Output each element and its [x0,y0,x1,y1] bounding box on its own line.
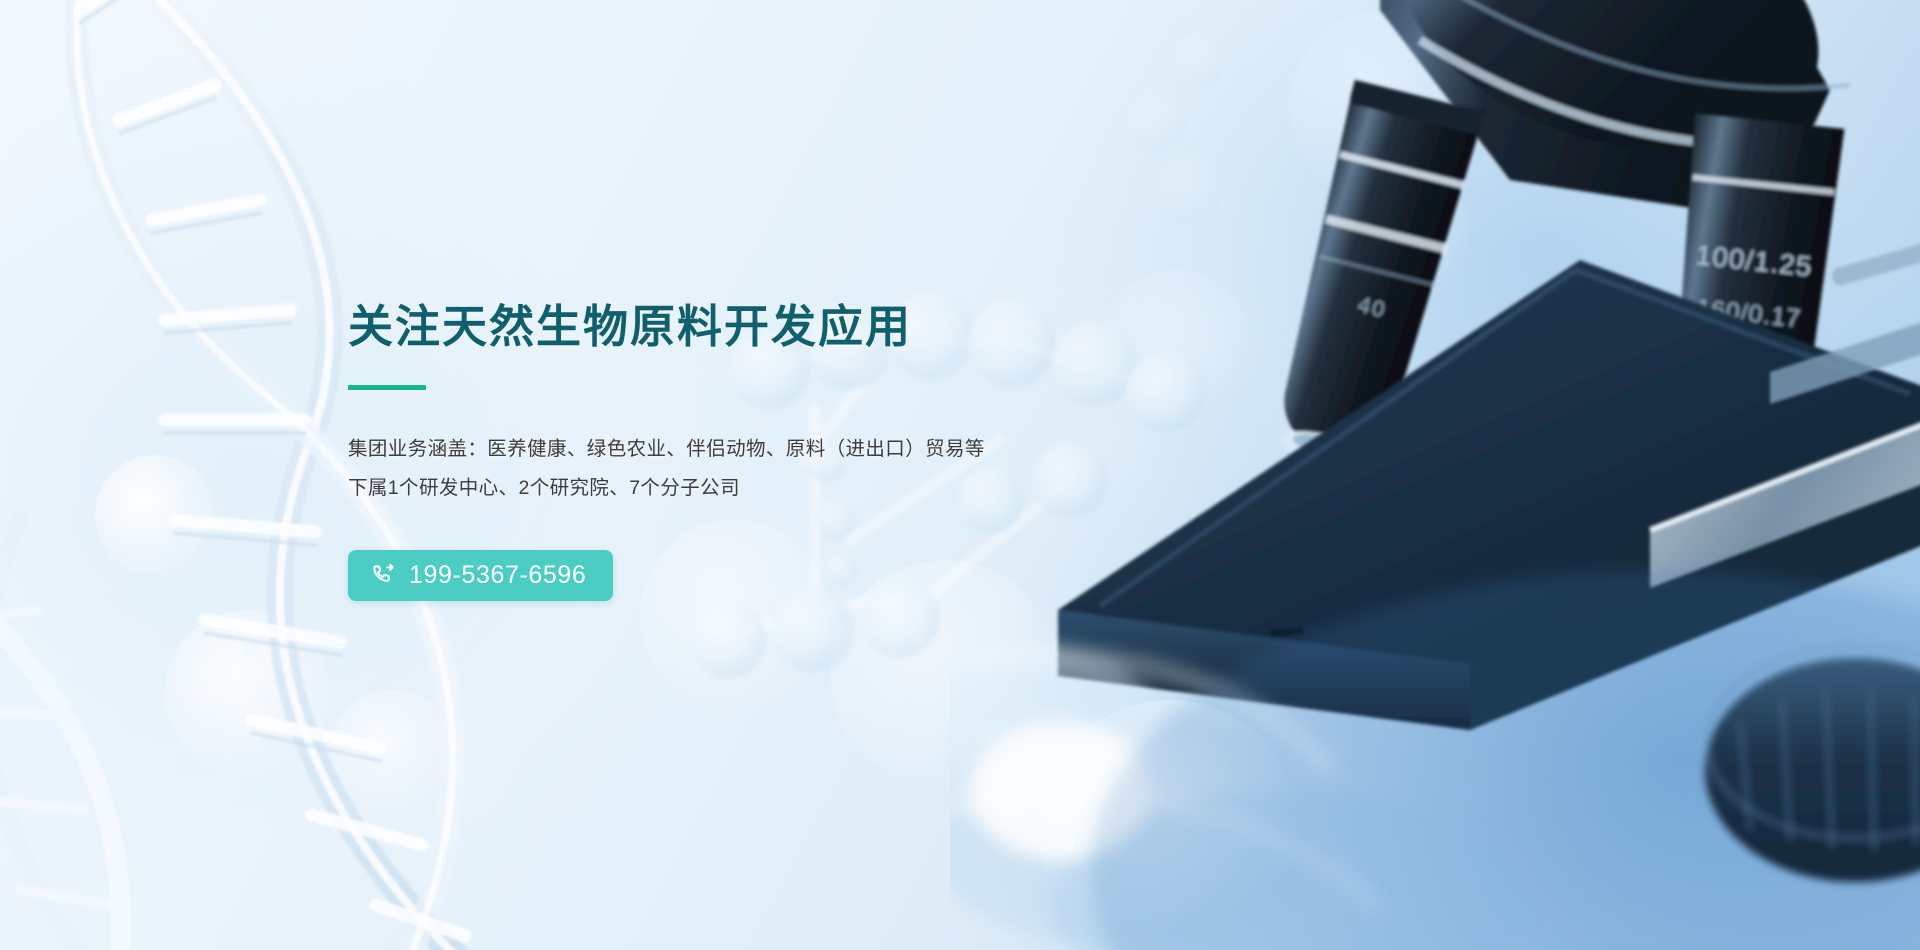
bokeh-disc [1040,700,1300,950]
svg-text:100/1.25: 100/1.25 [1694,239,1814,282]
phone-number-label: 199-5367-6596 [409,563,586,588]
phone-forwarded-icon [371,563,396,588]
svg-text:40: 40 [1355,292,1389,323]
svg-text:160/0.17: 160/0.17 [1695,294,1803,333]
hero-description: 集团业务涵盖：医养健康、绿色农业、伴侣动物、原料（进出口）贸易等 下属1个研发中… [348,430,1248,508]
page-title: 关注天然生物原料开发应用 [348,300,1248,353]
svg-text:100: 100 [1710,415,1762,450]
accent-divider [348,385,426,390]
description-line-1: 集团业务涵盖：医养健康、绿色农业、伴侣动物、原料（进出口）贸易等 [348,430,1248,469]
bokeh-disc [330,690,455,815]
hero-content: 关注天然生物原料开发应用 集团业务涵盖：医养健康、绿色农业、伴侣动物、原料（进出… [348,300,1248,601]
phone-cta-button[interactable]: 199-5367-6596 [348,550,613,601]
description-line-2: 下属1个研发中心、2个研究院、7个分子公司 [348,469,1248,508]
hero-banner: 40 100/1.25 160/0.17 100 [0,0,1920,950]
bokeh-disc [1290,10,1480,200]
bokeh-disc [165,610,330,775]
bokeh-disc [95,455,215,575]
bokeh-disc [1320,160,1470,310]
